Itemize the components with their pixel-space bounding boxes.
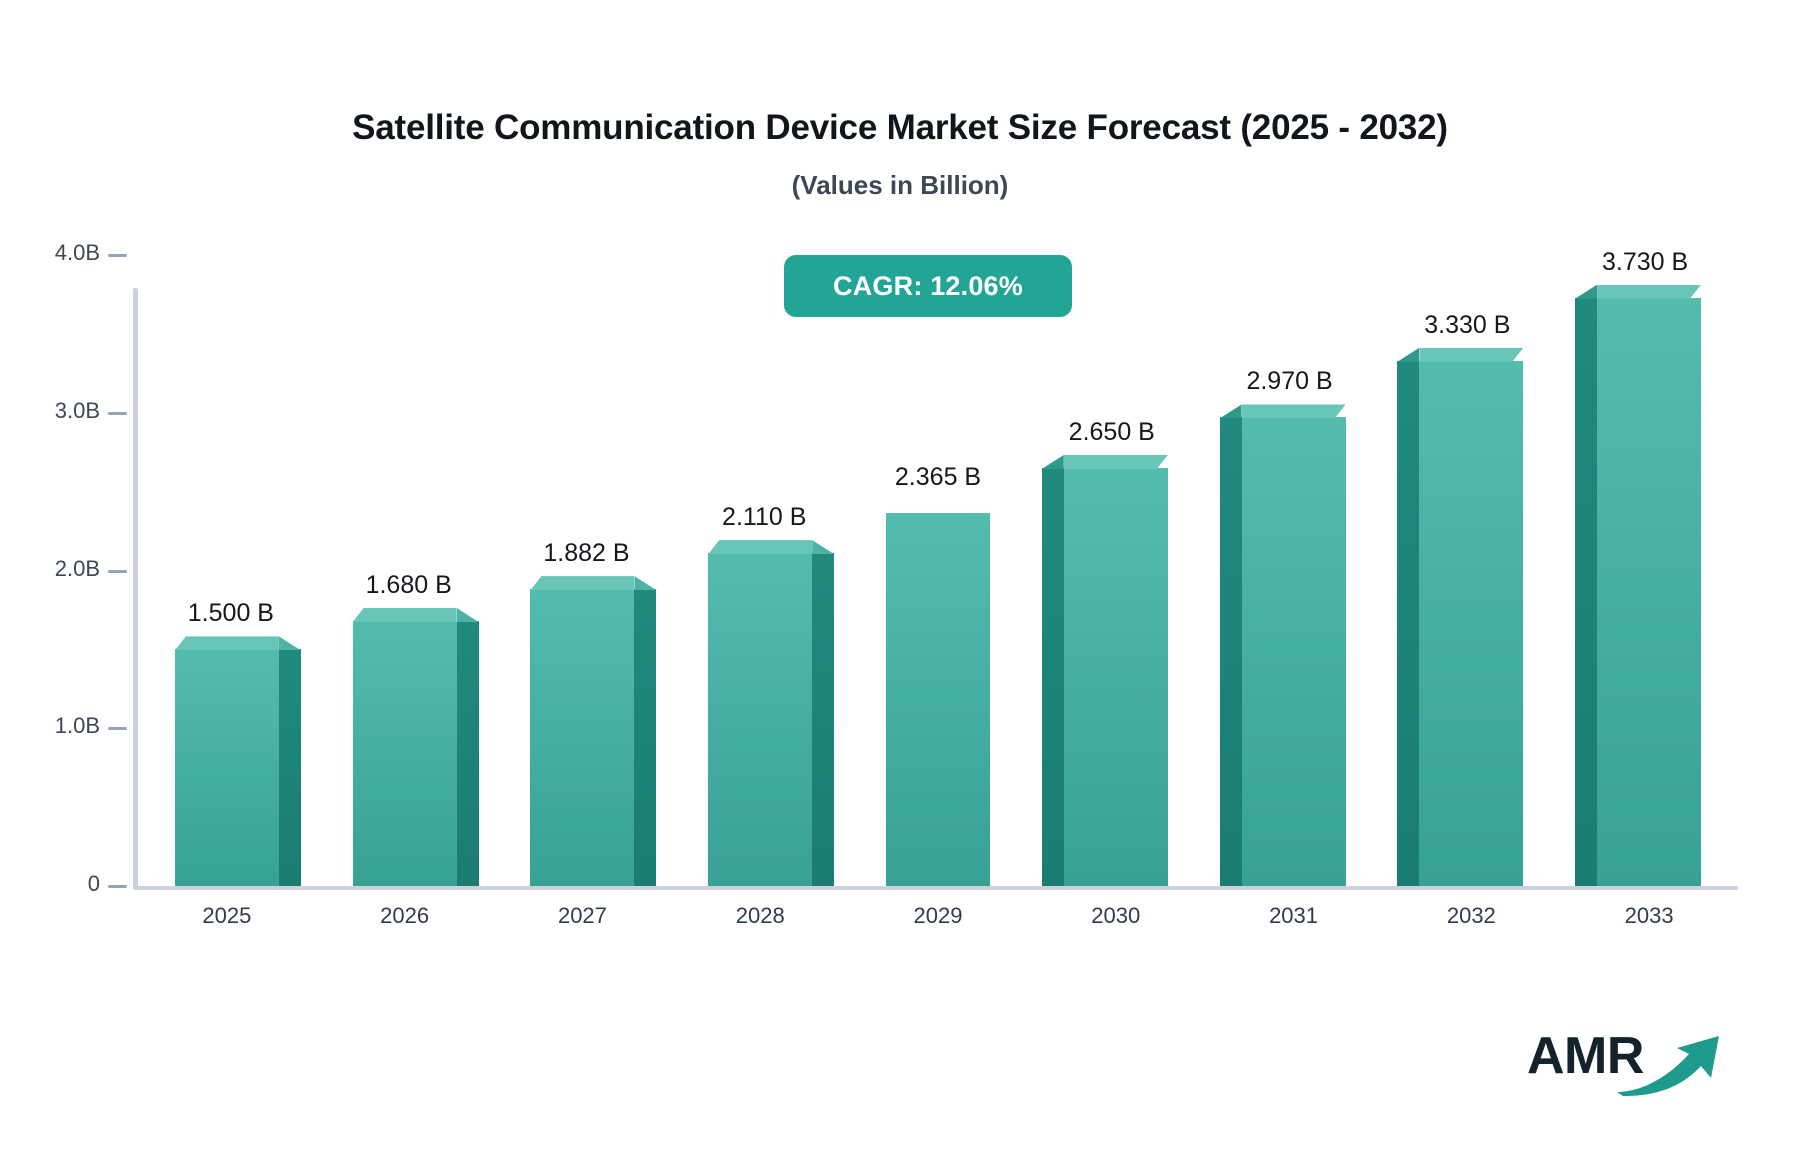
- x-axis-tick-label-2031: 2031: [1234, 903, 1354, 929]
- bar-2031[interactable]: [1242, 417, 1346, 886]
- bar-2026[interactable]: [353, 621, 457, 886]
- bar-top-face: [1242, 404, 1346, 418]
- bar-value-label-2030: 2.650 B: [1012, 418, 1212, 447]
- y-axis-tick-mark: [108, 727, 127, 730]
- bar-top-face: [1064, 455, 1168, 469]
- bar-side-face: [1220, 417, 1242, 886]
- bar-front-face: [1242, 417, 1346, 886]
- y-axis-tick-mark: [108, 570, 127, 573]
- bar-2032[interactable]: [1419, 361, 1523, 886]
- bar-value-label-2031: 2.970 B: [1190, 367, 1390, 396]
- y-axis-tick-label: 3.0B: [12, 398, 100, 424]
- bar-top-bevel: [812, 540, 834, 554]
- x-axis-tick-label-2029: 2029: [878, 903, 998, 929]
- x-axis-tick-label-2025: 2025: [167, 903, 287, 929]
- bar-2025[interactable]: [175, 649, 279, 886]
- y-axis-tick-label: 1.0B: [12, 713, 100, 739]
- bar-front-face: [886, 513, 990, 886]
- bar-top-bevel: [1220, 404, 1242, 418]
- bar-side-face: [1575, 298, 1597, 886]
- amr-logo: AMR: [1527, 1028, 1727, 1100]
- bar-value-label-2025: 1.500 B: [131, 599, 331, 628]
- x-axis-tick-label-2033: 2033: [1589, 903, 1709, 929]
- bar-top-face: [1597, 285, 1701, 299]
- bar-top-face: [708, 540, 812, 554]
- bar-front-face: [1597, 298, 1701, 886]
- chart-canvas: Satellite Communication Device Market Si…: [0, 0, 1800, 1156]
- bar-value-label-2028: 2.110 B: [664, 503, 864, 532]
- bar-top-face: [175, 636, 279, 650]
- x-axis-line: [133, 886, 1738, 890]
- y-axis-tick-mark: [108, 885, 127, 888]
- bar-2033[interactable]: [1597, 298, 1701, 886]
- bar-top-bevel: [1042, 455, 1064, 469]
- bar-2028[interactable]: [708, 553, 812, 886]
- bar-top-bevel: [279, 636, 301, 650]
- bar-top-face: [1419, 348, 1523, 362]
- y-axis-tick-mark: [108, 254, 127, 257]
- x-axis-tick-label-2032: 2032: [1411, 903, 1531, 929]
- bar-side-face: [279, 649, 301, 886]
- x-axis-tick-label-2028: 2028: [700, 903, 820, 929]
- bar-side-face: [1042, 468, 1064, 886]
- bar-side-face: [634, 589, 656, 886]
- bar-2029[interactable]: [886, 513, 990, 886]
- bar-top-bevel: [1575, 285, 1597, 299]
- bar-2030[interactable]: [1064, 468, 1168, 886]
- x-axis-tick-label-2030: 2030: [1056, 903, 1176, 929]
- bar-front-face: [708, 553, 812, 886]
- bar-front-face: [530, 589, 634, 886]
- bar-top-face: [530, 576, 634, 590]
- bar-2027[interactable]: [530, 589, 634, 886]
- y-axis-tick-mark: [108, 412, 127, 415]
- bar-front-face: [1064, 468, 1168, 886]
- x-axis-tick-label-2027: 2027: [522, 903, 642, 929]
- bar-front-face: [353, 621, 457, 886]
- bar-side-face: [812, 553, 834, 886]
- bar-top-bevel: [634, 576, 656, 590]
- bar-value-label-2032: 3.330 B: [1367, 311, 1567, 340]
- bar-value-label-2027: 1.882 B: [486, 539, 686, 568]
- y-axis-tick-label: 2.0B: [12, 556, 100, 582]
- bar-top-bevel: [457, 608, 479, 622]
- bar-value-label-2033: 3.730 B: [1545, 248, 1745, 277]
- y-axis-tick-label: 0: [12, 871, 100, 897]
- bar-side-face: [1397, 361, 1419, 886]
- y-axis-line: [133, 288, 138, 889]
- bar-front-face: [175, 649, 279, 886]
- bar-side-face: [457, 621, 479, 886]
- plot-area: 4.0B3.0B2.0B1.0B0 2025202620272028202920…: [0, 0, 1800, 1156]
- bar-value-label-2029: 2.365 B: [838, 463, 1038, 492]
- bar-front-face: [1419, 361, 1523, 886]
- bar-value-label-2026: 1.680 B: [309, 571, 509, 600]
- bar-top-bevel: [1397, 348, 1419, 362]
- growth-arrow-icon: [1615, 1034, 1727, 1096]
- x-axis-tick-label-2026: 2026: [345, 903, 465, 929]
- y-axis-tick-label: 4.0B: [12, 240, 100, 266]
- bar-top-face: [353, 608, 457, 622]
